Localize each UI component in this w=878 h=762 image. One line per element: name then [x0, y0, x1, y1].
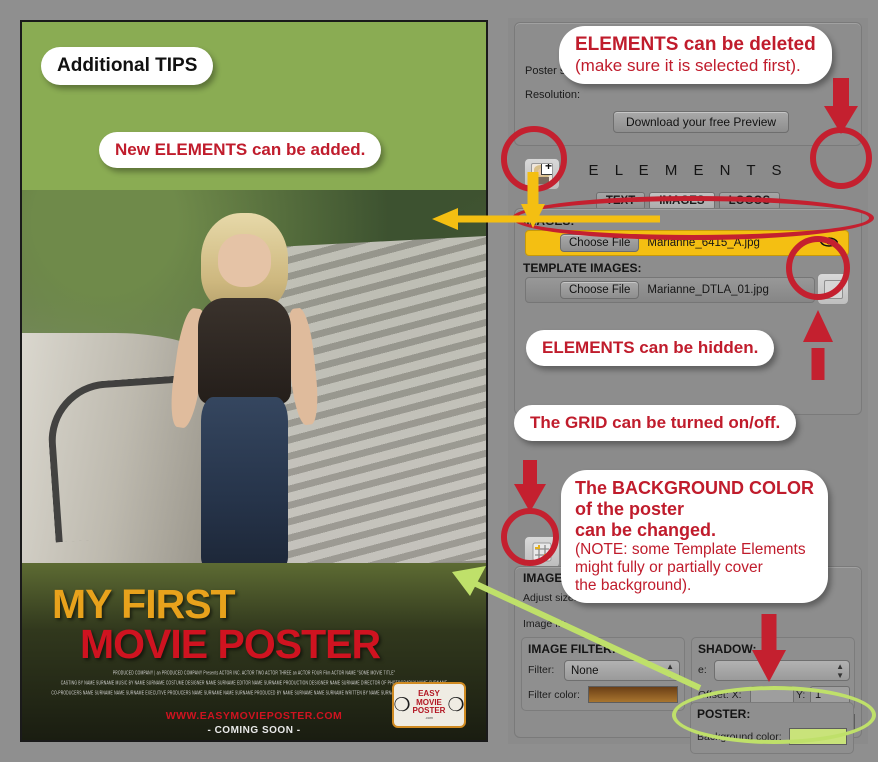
resolution-label: Resolution:	[525, 89, 580, 101]
highlight-add-button	[501, 126, 567, 192]
callout-add: New ELEMENTS can be added.	[99, 132, 381, 168]
offset-x-label: Offset: X:	[698, 689, 742, 701]
photo-person-jeans	[201, 397, 288, 567]
filter-color-label: Filter color:	[528, 689, 580, 701]
callout-tips: Additional TIPS	[41, 47, 213, 85]
callout-hidden-text: ELEMENTS can be hidden.	[542, 338, 758, 357]
choose-file-button-image[interactable]: Choose File	[560, 234, 639, 252]
callout-tips-text: Additional TIPS	[57, 55, 197, 76]
filter-label: Filter:	[528, 664, 554, 676]
laurel-left-icon: ❍	[394, 696, 411, 715]
screenshot-root: MY FIRST MOVIE POSTER PRODUCED COMPANY |…	[0, 0, 878, 762]
shadow-group: SHADOW: e: ▲▼ Offset: X: Y: 1	[691, 637, 855, 711]
poster-group: POSTER: Background color:	[690, 702, 854, 754]
shadow-heading: SHADOW:	[698, 642, 756, 656]
photo-person-top	[198, 298, 292, 404]
poster-badge: ❍ EASY MOVIE POSTER .com ❍	[392, 682, 466, 728]
callout-background-line1: The BACKGROUND COLOR	[575, 478, 814, 499]
laurel-right-icon: ❍	[447, 696, 464, 715]
badge-sub: .com	[425, 716, 433, 720]
chevron-updown-icon-shadow: ▲▼	[836, 662, 844, 680]
background-color-label: Background color:	[697, 731, 782, 743]
chevron-updown-icon: ▲▼	[666, 662, 674, 680]
callout-grid-text: The GRID can be turned on/off.	[530, 413, 780, 432]
poster-preview[interactable]: MY FIRST MOVIE POSTER PRODUCED COMPANY |…	[20, 20, 488, 742]
poster-title-line2: MOVIE POSTER	[80, 621, 380, 668]
filter-value: None	[571, 665, 599, 677]
badge-line3: POSTER	[411, 707, 448, 716]
photo-person-face	[218, 234, 271, 287]
template-image-file-name: Marianne_DTLA_01.jpg	[647, 284, 768, 296]
filter-color-swatch[interactable]	[588, 686, 678, 703]
image-section-heading: IMAGE:	[523, 571, 566, 585]
callout-hidden: ELEMENTS can be hidden.	[526, 330, 774, 366]
callout-delete: ELEMENTS can be deleted (make sure it is…	[559, 26, 832, 84]
image-filter-group: IMAGE FILTER: Filter: None ▲▼ Filter col…	[521, 637, 685, 711]
callout-background-line6: the background).	[575, 577, 814, 595]
editor-panel: Poster size: Resolution: Download your f…	[508, 18, 868, 744]
callout-background-line3: can be changed.	[575, 520, 814, 541]
callout-background-line4: (NOTE: some Template Elements	[575, 541, 814, 559]
callout-add-text: New ELEMENTS can be added.	[115, 140, 365, 159]
shadow-type-label: e:	[698, 664, 707, 676]
poster-photo[interactable]	[22, 190, 486, 567]
highlight-delete-button	[810, 127, 872, 189]
template-images-heading: TEMPLATE IMAGES:	[523, 261, 641, 275]
images-heading: IMAGES:	[523, 214, 574, 228]
highlight-hide-toggle	[786, 236, 850, 300]
poster-text-block: MY FIRST MOVIE POSTER PRODUCED COMPANY |…	[22, 563, 486, 740]
shadow-type-select[interactable]: ▲▼	[714, 660, 850, 681]
callout-delete-line2: (make sure it is selected first).	[575, 56, 816, 76]
filter-select[interactable]: None ▲▼	[564, 660, 680, 681]
callout-grid: The GRID can be turned on/off.	[514, 405, 796, 441]
template-image-file-row[interactable]: Choose File Marianne_DTLA_01.jpg	[525, 277, 815, 303]
download-preview-button[interactable]: Download your free Preview	[613, 111, 789, 133]
image-file-name: Marianne_6415_A.jpg	[647, 237, 760, 249]
photo-person	[161, 213, 328, 567]
callout-delete-line1: ELEMENTS can be deleted	[575, 34, 816, 56]
offset-y-label: Y:	[796, 689, 805, 701]
background-color-swatch[interactable]	[789, 728, 847, 745]
image-fit-label: Image fit:	[523, 618, 566, 630]
image-filter-heading: IMAGE FILTER:	[528, 642, 616, 656]
callout-background-line5: might fully or partially cover	[575, 559, 814, 577]
callout-background: The BACKGROUND COLOR of the poster can b…	[561, 470, 828, 603]
callout-background-line2: of the poster	[575, 499, 814, 520]
highlight-grid-button	[501, 508, 559, 566]
choose-file-button-template[interactable]: Choose File	[560, 281, 639, 299]
poster-heading: POSTER:	[697, 707, 750, 721]
